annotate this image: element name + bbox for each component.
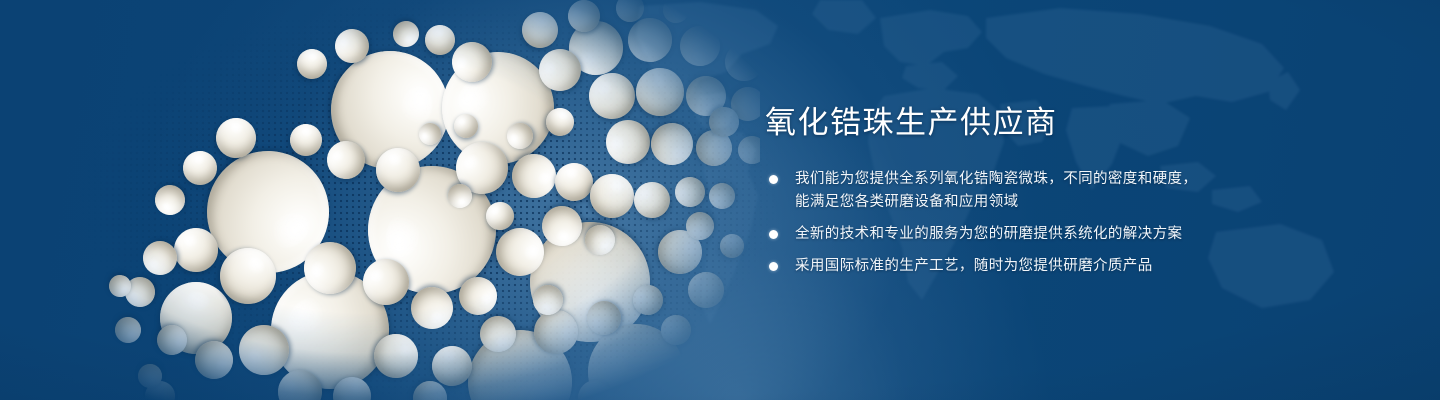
bullet-dot-icon <box>769 262 778 271</box>
bead <box>648 120 697 169</box>
list-item-label-continued: 能满足您各类研磨设备和应用领域 <box>795 191 1385 214</box>
bullet-dot-icon <box>769 230 778 239</box>
list-item: 全新的技术和专业的服务为您的研磨提供系统化的解决方案 <box>765 223 1385 246</box>
list-item: 采用国际标准的生产工艺，随时为您提供研磨介质产品 <box>765 255 1385 278</box>
bead <box>292 44 333 85</box>
bead <box>582 66 641 125</box>
list-item-label: 采用国际标准的生产工艺，随时为您提供研磨介质产品 <box>795 255 1385 278</box>
bead <box>672 18 728 74</box>
bullet-dot-icon <box>769 175 778 184</box>
feature-list: 我们能为您提供全系列氧化锆陶瓷微珠，不同的密度和硬度， 能满足您各类研磨设备和应… <box>765 168 1385 278</box>
page-title: 氧化锆珠生产供应商 <box>765 104 1385 142</box>
bead <box>629 61 690 122</box>
bead <box>149 179 191 221</box>
bead <box>410 286 453 329</box>
bead <box>373 333 420 380</box>
list-item-label: 全新的技术和专业的服务为您的研磨提供系统化的解决方案 <box>795 223 1385 246</box>
bead <box>113 315 143 345</box>
bead <box>705 179 738 212</box>
banner-copy: 氧化锆珠生产供应商 我们能为您提供全系列氧化锆陶瓷微珠，不同的密度和硬度， 能满… <box>765 104 1385 278</box>
bead <box>716 230 747 261</box>
bead <box>599 113 656 170</box>
list-item-label: 我们能为您提供全系列氧化锆陶瓷微珠，不同的密度和硬度， <box>795 168 1385 191</box>
bead <box>671 173 709 211</box>
zirconia-beads-image <box>0 0 760 400</box>
bead <box>515 5 565 55</box>
list-item: 我们能为您提供全系列氧化锆陶瓷微珠，不同的密度和硬度， 能满足您各类研磨设备和应… <box>765 168 1385 214</box>
bead <box>392 20 421 49</box>
hero-banner: 氧化锆珠生产供应商 我们能为您提供全系列氧化锆陶瓷微珠，不同的密度和硬度， 能满… <box>0 0 1440 400</box>
bead <box>629 177 676 224</box>
bead <box>683 267 730 314</box>
